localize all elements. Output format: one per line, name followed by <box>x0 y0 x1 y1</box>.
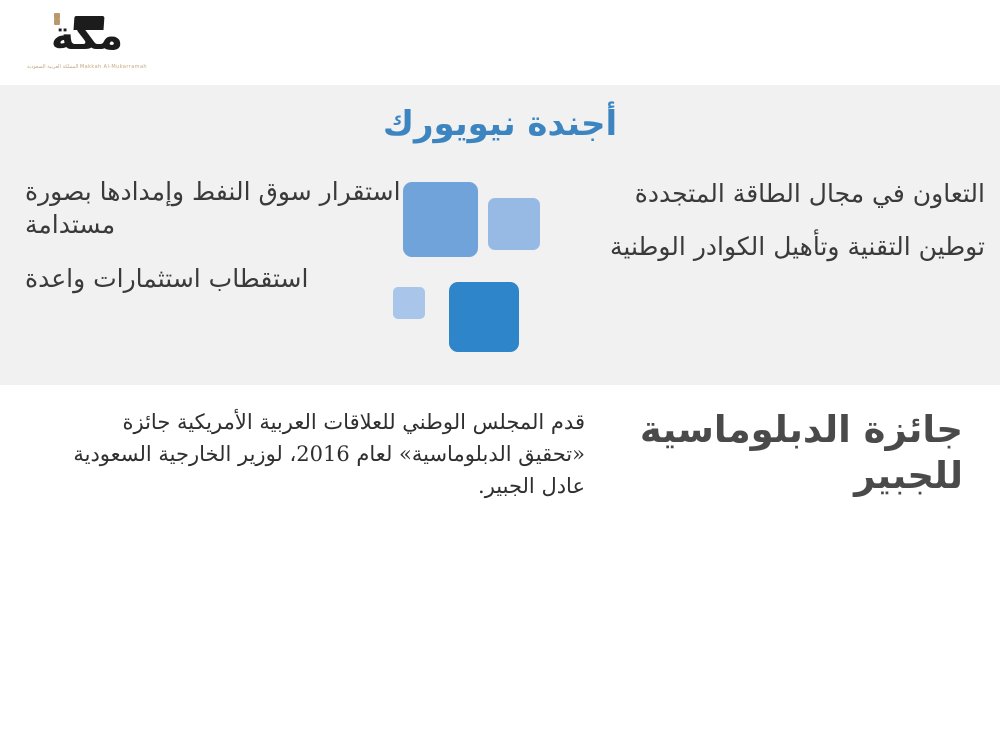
agenda-list-left: التعاون في مجال الطاقة المتجددة توطين ال… <box>555 178 985 283</box>
agenda-item-oil-market: استقرار سوق النفط وإمدادها بصورة مستدامة <box>25 176 445 241</box>
logo-tagline: المملكة العربية السعودية Makkah Al-Mukar… <box>22 64 152 70</box>
award-title: جائزة الدبلوماسية للجبير <box>603 407 963 500</box>
agenda-item-renewable-energy: التعاون في مجال الطاقة المتجددة <box>555 178 985 211</box>
makkah-newspaper-logo: مكة المملكة العربية السعودية Makkah Al-M… <box>22 14 152 76</box>
agenda-item-investments: استقطاب استثمارات واعدة <box>25 263 445 296</box>
award-card: جائزة الدبلوماسية للجبير قدم المجلس الوط… <box>12 385 975 545</box>
agenda-item-tech-localization: توطين التقنية وتأهيل الكوادر الوطنية <box>555 231 985 264</box>
award-body: قدم المجلس الوطني للعلاقات العربية الأمر… <box>55 407 585 503</box>
agenda-list-right: استقرار سوق النفط وإمدادها بصورة مستدامة… <box>25 176 445 318</box>
logo-dots-icon <box>54 13 70 20</box>
mosaic-square-bottom-right <box>449 282 519 352</box>
page-title: أجندة نيويورك <box>0 104 1000 144</box>
infographic-page: { "page": { "background": "#ffffff", "pa… <box>0 0 1000 750</box>
kaaba-icon <box>74 16 105 30</box>
logo-mark: مكة <box>28 14 146 60</box>
mosaic-square-top-right <box>488 198 540 250</box>
